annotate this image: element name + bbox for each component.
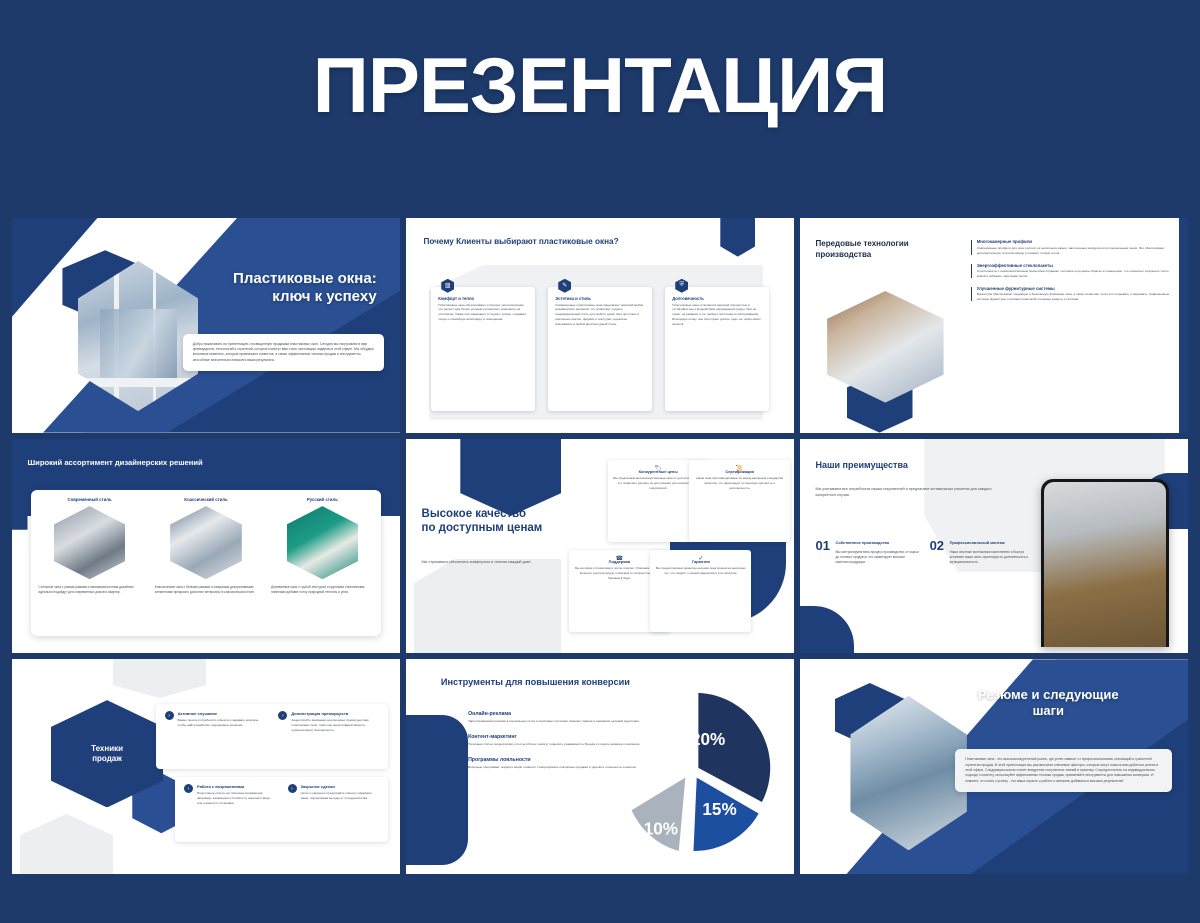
- modern-window-photo: [54, 506, 126, 579]
- chevron-right-icon: ›: [165, 711, 174, 720]
- advantage-number: 02: [930, 538, 944, 553]
- slide-grid: Пластиковые окна: ключ к успеху Добро по…: [12, 218, 1188, 874]
- technique-item[interactable]: › Работа с возражениями Подготовьте отве…: [184, 784, 276, 834]
- advantage-text: Мы контролируем весь процесс производств…: [836, 550, 919, 566]
- tech-item-heading: Энергоэффективные стеклопакеты: [977, 263, 1173, 268]
- style-column[interactable]: Русский стиль Деревянные окна с грубой т…: [264, 490, 380, 636]
- decor-ribbon-tab: [460, 439, 561, 516]
- technique-text: Важно понять потребности клиента и задав…: [178, 718, 266, 728]
- slide-1-title[interactable]: Пластиковые окна: ключ к успеху Добро по…: [12, 218, 400, 433]
- tech-item-text: Современные профили для окон состоят из …: [977, 246, 1173, 256]
- classic-window-photo: [170, 506, 242, 579]
- pie-label-10: 10%: [643, 820, 677, 839]
- technique-row: › Активное слушание Важно понять потребн…: [156, 704, 389, 768]
- slide-9-heading-line2: шаги: [932, 703, 1165, 719]
- slide-8-heading: Инструменты для повышения конверсии: [441, 677, 689, 687]
- certificate-icon: 📜: [735, 463, 745, 474]
- technique-heading: Активное слушание: [178, 711, 266, 716]
- chevron-right-icon: ›: [278, 711, 287, 720]
- tech-item[interactable]: Многокамерные профили Современные профил…: [971, 239, 1173, 255]
- decor-ribbon-tab: [720, 218, 755, 257]
- slide-2-why-clients[interactable]: Почему Клиенты выбирают пластиковые окна…: [406, 218, 794, 433]
- slide-6-subtitle: Мы учитываем все потребности наших покуп…: [816, 486, 1002, 499]
- slide-3-heading-line2: производства: [816, 250, 987, 260]
- pie-label-20: 20%: [691, 730, 725, 749]
- decor-right-bar: [1179, 218, 1188, 433]
- technique-item[interactable]: › Активное слушание Важно понять потребн…: [165, 711, 266, 761]
- slide-3-item-list: Многокамерные профили Современные профил…: [971, 239, 1173, 308]
- quality-card[interactable]: 📜 Сертификация Наши окна сертифицированы…: [689, 460, 790, 542]
- slide-3-heading: Передовые технологии производства: [816, 239, 987, 260]
- technique-text: Подготовьте ответы на типичные возражени…: [197, 791, 276, 806]
- technique-heading: Демонстрация преимуществ: [291, 711, 379, 716]
- benefit-card-heading: Комфорт и тепло: [438, 296, 528, 301]
- slide-7-sales-techniques[interactable]: Техники продаж › Активное слушание Важно…: [12, 659, 400, 874]
- slide-5-heading: Высокое качество по доступным ценам: [422, 507, 608, 535]
- slide-9-heading-line1: Резюме и следующие: [932, 687, 1165, 703]
- slide-1-heading: Пластиковые окна: ключ к успеху: [152, 270, 377, 306]
- deck-title: ПРЕЗЕНТАЦИЯ: [0, 46, 1200, 124]
- advantage-heading: Профессиональный монтаж: [950, 540, 1033, 545]
- slide-1-body-card: Добро пожаловать на презентацию, посвяще…: [183, 334, 385, 371]
- benefit-card[interactable]: ▥ Комфорт и тепло Пластиковые окна обесп…: [431, 287, 535, 412]
- pie-label-15: 15%: [702, 800, 736, 819]
- technique-heading: Работа с возражениями: [197, 784, 276, 789]
- slide-3-technologies[interactable]: Передовые технологии производства Многок…: [800, 218, 1188, 433]
- technique-item[interactable]: › Демонстрация преимуществ Акцентируйте …: [278, 711, 379, 761]
- slide-4-heading: Широкий ассортимент дизайнерских решений: [28, 458, 338, 467]
- slide-9-body-card: Пластиковые окна - это высококонкурентны…: [955, 749, 1172, 791]
- slide-9-heading: Резюме и следующие шаги: [932, 687, 1165, 718]
- decor-blue-blob: [406, 715, 468, 865]
- factory-photo: [827, 291, 943, 403]
- support-icon: ☎: [614, 553, 624, 564]
- technique-row: › Работа с возражениями Подготовьте отве…: [175, 777, 388, 841]
- advantage-item[interactable]: 02 Профессиональный монтаж Наши опытные …: [930, 540, 1033, 566]
- hexagon-label-line2: продаж: [91, 754, 123, 764]
- slide-9-summary[interactable]: Резюме и следующие шаги Пластиковые окна…: [800, 659, 1188, 874]
- conversion-pie-chart: 20% 15% 10%: [612, 689, 775, 856]
- style-heading: Современный стиль: [38, 497, 140, 502]
- benefit-card[interactable]: ✎ Эстетика и стиль Современные пластиков…: [548, 287, 652, 412]
- tech-item[interactable]: Улучшенные фурнитурные системы Фурнитура…: [971, 286, 1173, 302]
- slide-6-advantages[interactable]: Наши преимущества Мы учитываем все потре…: [800, 439, 1188, 654]
- slide-1-body-text: Добро пожаловать на презентацию, посвяще…: [193, 342, 375, 363]
- slide-9-body-text: Пластиковые окна - это высококонкурентны…: [965, 757, 1162, 783]
- tech-item-text: Стеклопакеты с низкоэмиссионным покрытие…: [977, 269, 1173, 279]
- hexagon-label: Техники продаж: [91, 744, 123, 764]
- price-tag-icon: 🏷: [653, 463, 663, 474]
- style-text: Стильные окна с узкими рамами и минимали…: [38, 585, 140, 595]
- phone-mockup: [1041, 479, 1169, 646]
- quality-card[interactable]: ✓ Гарантия Мы предоставляем гарантию на …: [650, 550, 751, 632]
- slide-1-heading-line2: ключ к успеху: [152, 288, 377, 306]
- style-heading: Классический стиль: [155, 497, 257, 502]
- slide-1-heading-line1: Пластиковые окна:: [152, 270, 377, 288]
- tech-item-heading: Многокамерные профили: [977, 239, 1173, 244]
- style-heading: Русский стиль: [271, 497, 373, 502]
- worker-photo: [1044, 482, 1166, 646]
- slide-5-quality-price[interactable]: Высокое качество по доступным ценам Мы с…: [406, 439, 794, 654]
- style-text: Деревянные окна с грубой текстурой и кру…: [271, 585, 373, 595]
- slide-2-heading: Почему Клиенты выбирают пластиковые окна…: [423, 237, 695, 246]
- advantage-heading: Собственное производство: [836, 540, 919, 545]
- advantage-text: Наши опытные монтажники качественно и бы…: [950, 550, 1033, 566]
- benefit-card[interactable]: ⛨ Долговечность Пластиковые окна отличаю…: [665, 287, 769, 412]
- russian-window-photo: [287, 506, 359, 579]
- slide-4-card-panel: Современный стиль Стильные окна с узкими…: [31, 490, 380, 636]
- slide-5-subtitle: Мы стремимся обеспечить комфортом и тепл…: [422, 559, 585, 565]
- slide-2-card-list: ▥ Комфорт и тепло Пластиковые окна обесп…: [431, 287, 769, 412]
- pie-slice-10: [631, 778, 685, 851]
- quality-card-text: Наши окна сертифицированы по международн…: [694, 476, 785, 490]
- slide-3-heading-line1: Передовые технологии: [816, 239, 987, 249]
- tech-item-text: Фурнитура обеспечивает надежную и безопа…: [977, 292, 1173, 302]
- slide-5-heading-line2: по доступным ценам: [422, 521, 608, 535]
- slide-6-heading: Наши преимущества: [816, 460, 1049, 470]
- slide-6-number-list: 01 Собственное производство Мы контролир…: [816, 540, 1033, 566]
- technique-item[interactable]: › Закрытие сделки Четко и уверенно предл…: [288, 784, 380, 834]
- style-column[interactable]: Классический стиль Классические окна с б…: [148, 490, 264, 636]
- quality-card-text: Мы предоставляем гарантию на наши окна с…: [655, 566, 746, 576]
- tech-item-heading: Улучшенные фурнитурные системы: [977, 286, 1173, 291]
- slide-8-conversion-tools[interactable]: Инструменты для повышения конверсии Онла…: [406, 659, 794, 874]
- slide-5-heading-line1: Высокое качество: [422, 507, 608, 521]
- technique-text: Четко и уверенно предлагайте клиенту офо…: [301, 791, 380, 801]
- chevron-right-icon: ›: [288, 784, 297, 793]
- benefit-card-text: Современные пластиковые окна предлагают …: [555, 303, 645, 327]
- technique-text: Акцентируйте внимание на ключевых преиму…: [291, 718, 379, 733]
- benefit-card-text: Пластиковые окна обеспечивают отличную т…: [438, 303, 528, 322]
- guarantee-icon: ✓: [696, 553, 706, 564]
- benefit-card-heading: Долговечность: [672, 296, 762, 301]
- slide-4-design-range[interactable]: Широкий ассортимент дизайнерских решений…: [12, 439, 400, 654]
- decor-gray-hexagon: [20, 814, 113, 874]
- benefit-card-heading: Эстетика и стиль: [555, 296, 645, 301]
- tech-item[interactable]: Энергоэффективные стеклопакеты Стеклопак…: [971, 263, 1173, 279]
- decor-gray-hexagon: [113, 659, 206, 698]
- decor-blue-corner: [800, 606, 854, 653]
- hexagon-label-line1: Техники: [91, 744, 123, 754]
- style-column[interactable]: Современный стиль Стильные окна с узкими…: [31, 490, 147, 636]
- advantage-number: 01: [816, 538, 830, 553]
- benefit-card-text: Пластиковые окна отличаются высокой проч…: [672, 303, 762, 327]
- advantage-item[interactable]: 01 Собственное производство Мы контролир…: [816, 540, 919, 566]
- style-text: Классические окна с белыми рамами и изящ…: [155, 585, 257, 595]
- technique-heading: Закрытие сделки: [301, 784, 380, 789]
- chevron-right-icon: ›: [184, 784, 193, 793]
- decor-gray-shape: [414, 559, 561, 653]
